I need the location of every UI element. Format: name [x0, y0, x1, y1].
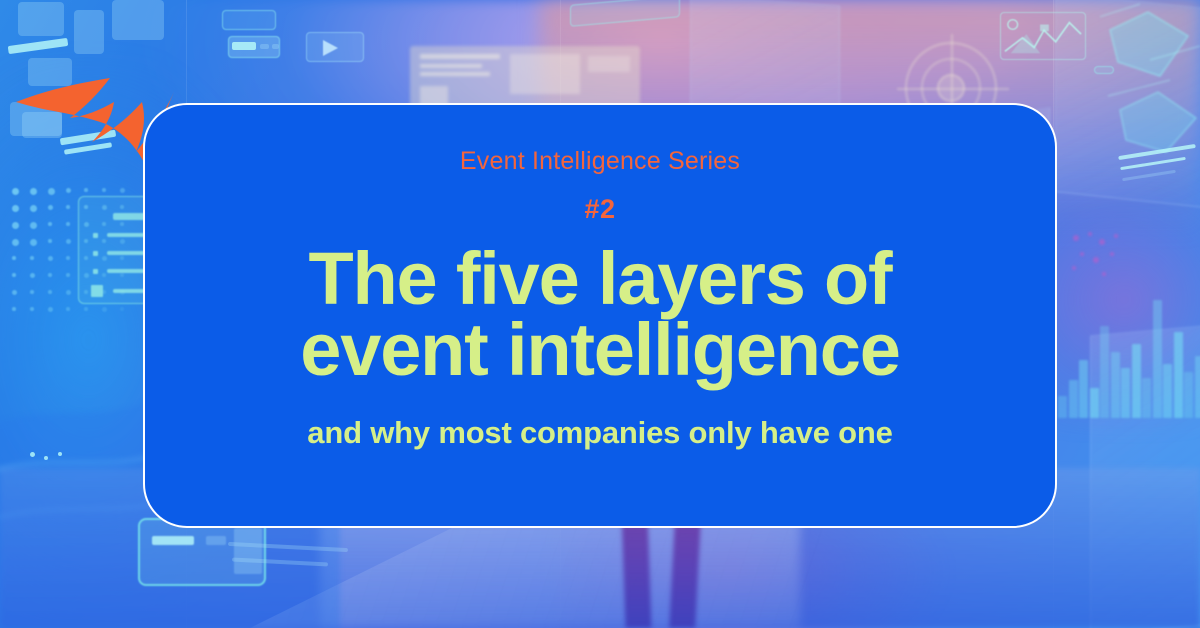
lower-hologram-card — [138, 518, 266, 586]
hologram-bar — [260, 44, 269, 49]
hologram-dot — [58, 452, 62, 456]
hologram-panel — [222, 10, 276, 30]
hologram-bar — [232, 42, 256, 50]
hero-card: Event Intelligence Series #2 The five la… — [143, 103, 1057, 528]
poster-canvas: Event Intelligence Series #2 The five la… — [0, 0, 1200, 628]
issue-number-label: #2 — [584, 194, 615, 225]
document-panel-hologram — [410, 46, 640, 108]
hologram-panel — [1094, 66, 1114, 74]
hologram-bar — [272, 44, 279, 49]
play-icon — [323, 40, 338, 56]
series-eyebrow-label: Event Intelligence Series — [460, 148, 740, 176]
line-chart-panel-hologram — [1000, 12, 1086, 60]
play-button-panel — [306, 32, 364, 62]
hologram-dot — [30, 452, 35, 457]
bar-chart-panel-hologram — [1058, 218, 1200, 418]
page-title: The five layers of event intelligence — [300, 243, 899, 385]
page-subtitle: and why most companies only have one — [307, 415, 892, 451]
hologram-dot — [44, 456, 48, 460]
